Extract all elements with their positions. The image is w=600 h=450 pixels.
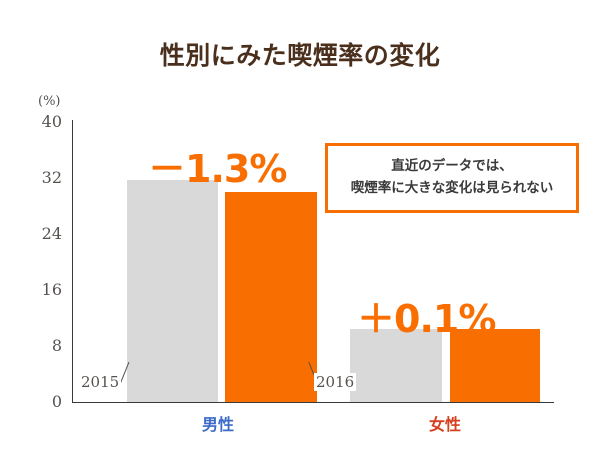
y-tick-32: 32 — [20, 170, 62, 186]
y-tick-16: 16 — [20, 282, 62, 298]
bar-male-2015 — [127, 180, 218, 402]
callout-line-1: 直近のデータでは、 — [334, 156, 570, 178]
y-axis-unit-label: (%) — [38, 94, 61, 109]
bar-male-2016 — [225, 192, 317, 402]
year-label-2015: 2015 — [79, 373, 121, 391]
y-tick-40: 40 — [20, 114, 62, 130]
category-label-female: 女性 — [385, 411, 505, 435]
y-tick-24: 24 — [20, 226, 62, 242]
female-delta-label: ＋0.1% — [357, 288, 495, 343]
chart-container: 性別にみた喫煙率の変化 (%) 40 32 24 16 8 0 －1.3% ＋0… — [0, 0, 600, 450]
x-axis-line — [72, 402, 554, 403]
callout-line-2: 喫煙率に大きな変化は見られない — [334, 178, 570, 200]
y-tick-8: 8 — [20, 338, 62, 354]
y-tick-0: 0 — [20, 394, 62, 410]
year-label-2016: 2016 — [314, 373, 356, 391]
category-label-male: 男性 — [158, 411, 278, 435]
chart-title: 性別にみた喫煙率の変化 — [0, 36, 600, 72]
callout-box: 直近のデータでは、 喫煙率に大きな変化は見られない — [325, 143, 579, 213]
male-delta-label: －1.3% — [148, 138, 286, 193]
